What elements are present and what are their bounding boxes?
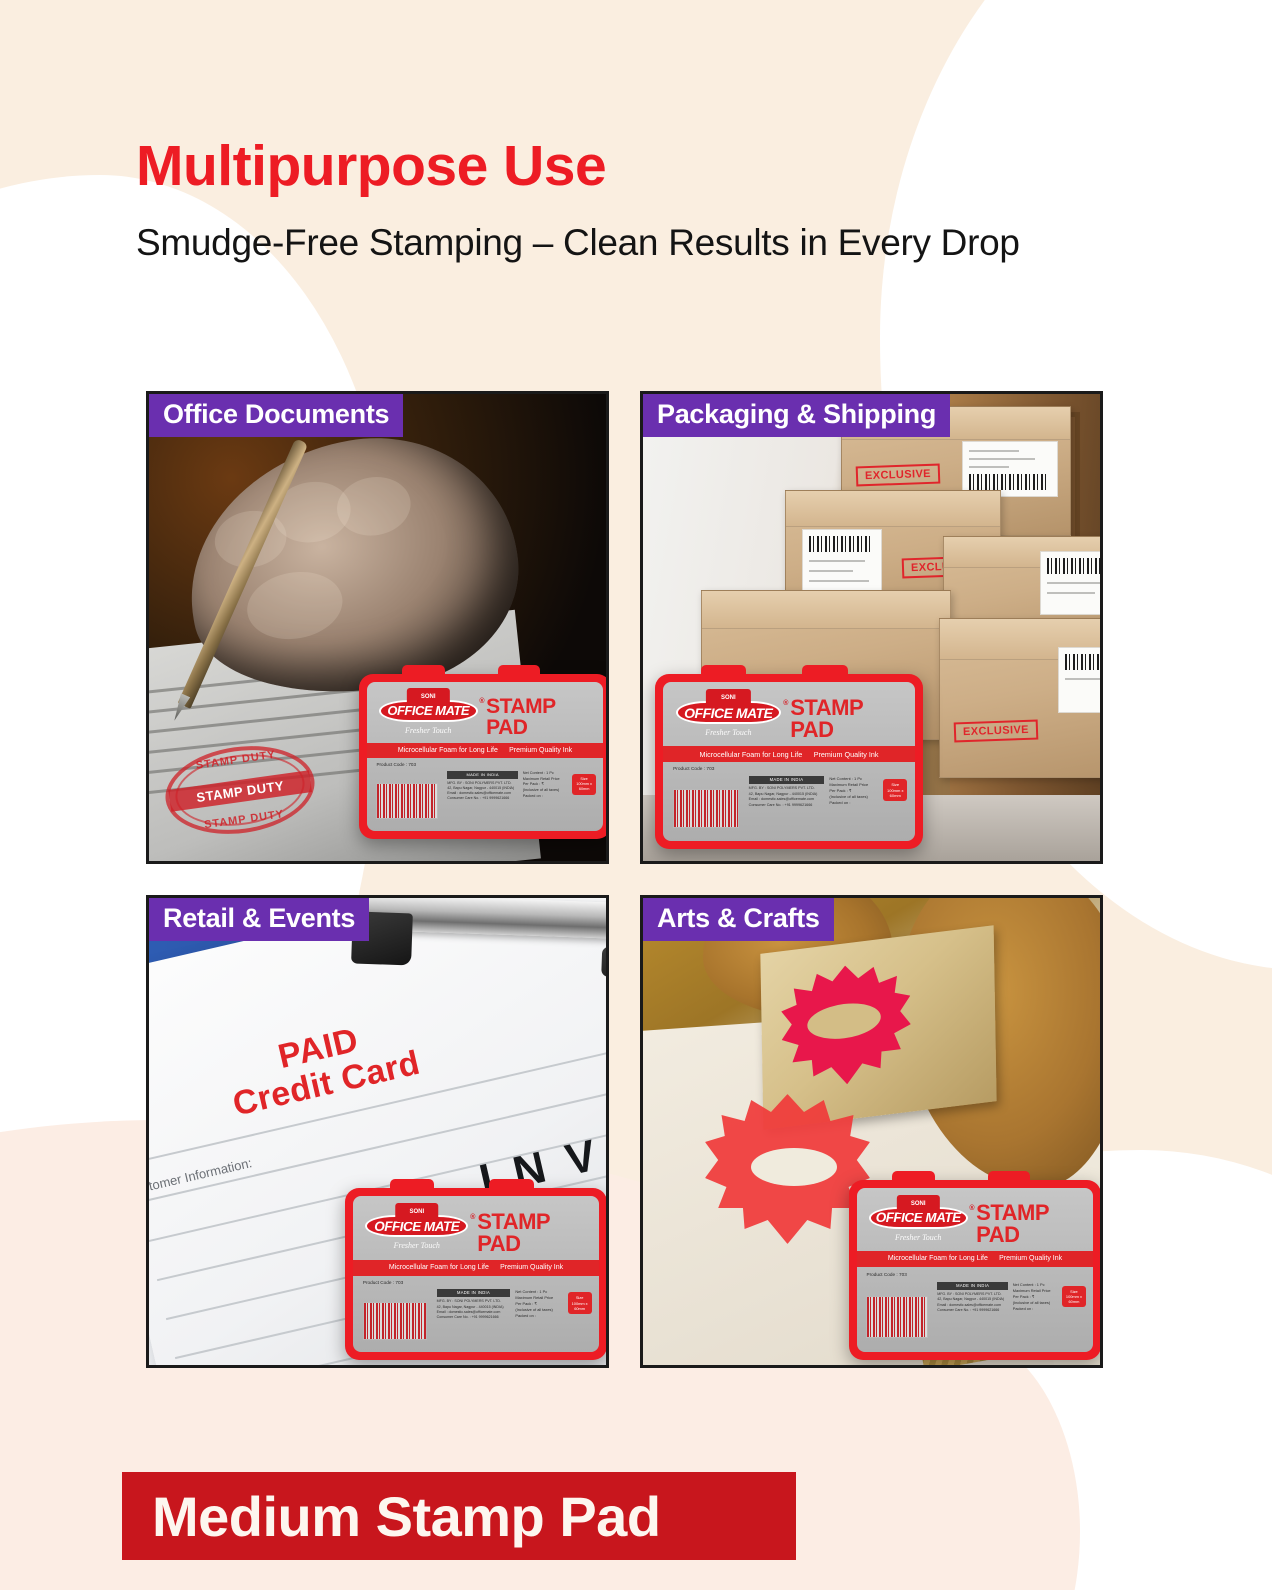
brand-logo: SONI OFFICE MATE ® Fresher Touch: [379, 700, 478, 735]
pack-hinge-right: [489, 1179, 534, 1193]
mfg-line-3: Email : domestic.sales@officemate.com: [937, 1303, 1008, 1308]
pack-label: SONI OFFICE MATE ® Fresher Touch STAMP P…: [663, 682, 915, 841]
feature-text-1: Microcellular Foam for Long Life: [389, 1264, 489, 1271]
product-details: Net Content : 1 Pc Maximum Retail Price …: [1013, 1282, 1065, 1311]
manufacturer-info: MADE IN INDIA MFG. BY : SONI POLYMERS PV…: [437, 1289, 511, 1320]
product-details: Net Content : 1 Pc Maximum Retail Price …: [515, 1289, 569, 1318]
product-title: STAMP PAD: [486, 696, 555, 738]
shipping-label: [1058, 647, 1103, 713]
product-code: Product Code : 703: [363, 1280, 403, 1285]
pack-hinge-left: [701, 665, 747, 679]
product-title-line1: STAMP: [976, 1202, 1049, 1224]
tile-badge-retail-events: Retail & Events: [149, 898, 369, 941]
pack-hinge-right: [988, 1171, 1031, 1185]
product-code: Product Code : 703: [673, 767, 714, 772]
registered-trademark-icon: ®: [783, 700, 788, 707]
pack-hinge-right: [498, 665, 541, 679]
product-title-line2: PAD: [486, 717, 555, 738]
exclusive-stamp: EXCLUSIVE: [954, 720, 1039, 743]
mfg-line-2: 42, Bapu Nagar, Nagpur - 440015 (INDIA): [937, 1297, 1008, 1302]
made-in-india-badge: MADE IN INDIA: [437, 1289, 511, 1297]
size-badge: Size 100mm x 60mm: [568, 1292, 592, 1313]
product-details: Net Content : 1 Pc Maximum Retail Price …: [829, 776, 884, 806]
product-code: Product Code : 703: [866, 1272, 906, 1277]
size-value-2: 60mm: [572, 1306, 588, 1311]
pack-hinge-right: [802, 665, 848, 679]
mfg-line-4: Consumer Care No. : +91 9999621666: [937, 1308, 1008, 1313]
product-pack[interactable]: SONI OFFICE MATE ® Fresher Touch STAMP P…: [655, 674, 923, 849]
product-name-banner: Medium Stamp Pad: [122, 1472, 796, 1560]
made-in-india-badge: MADE IN INDIA: [937, 1282, 1008, 1290]
registered-trademark-icon: ®: [969, 1205, 974, 1212]
barcode: [376, 783, 437, 820]
tile-badge-arts-crafts: Arts & Crafts: [643, 898, 834, 941]
promo-page: Multipurpose Use Smudge-Free Stamping – …: [0, 0, 1272, 1590]
page-title: Multipurpose Use: [136, 133, 606, 199]
brand-logo-soni: SONI: [395, 1203, 438, 1221]
feature-text-1: Microcellular Foam for Long Life: [398, 747, 498, 754]
manufacturer-info: MADE IN INDIA MFG. BY : SONI POLYMERS PV…: [749, 776, 825, 808]
made-in-india-badge: MADE IN INDIA: [749, 776, 825, 784]
registered-trademark-icon: ®: [470, 1214, 475, 1221]
brand-tagline-script: Fresher Touch: [676, 728, 781, 737]
product-title-line1: STAMP: [790, 697, 863, 719]
use-case-tile-office-documents[interactable]: STAMP DUTY STAMP DUTY STAMP DUTY SONI OF…: [146, 391, 609, 864]
brand-tagline-script: Fresher Touch: [869, 1233, 968, 1242]
mfg-line-4: Consumer Care No. : +91 9999621666: [437, 1315, 511, 1320]
brand-logo-soni: SONI: [897, 1195, 939, 1213]
printed-impression-center: [751, 1148, 837, 1186]
use-case-tile-retail-events[interactable]: No Customer Information: Part Name PAID …: [146, 895, 609, 1368]
mfg-line-1: MFG. BY : SONI POLYMERS PVT. LTD.: [749, 786, 825, 791]
product-title: STAMP PAD: [976, 1202, 1049, 1246]
brand-tagline-script: Fresher Touch: [379, 726, 478, 735]
exclusive-stamp: EXCLUSIVE: [856, 464, 941, 487]
size-badge: Size 100mm x 60mm: [883, 779, 907, 801]
size-value-2: 60mm: [1066, 1299, 1082, 1304]
product-title: STAMP PAD: [790, 697, 863, 741]
barcode: [673, 789, 739, 828]
product-title-line2: PAD: [976, 1224, 1049, 1246]
product-code: Product Code : 703: [376, 762, 416, 767]
product-title-line2: PAD: [477, 1233, 550, 1255]
product-pack[interactable]: SONI OFFICE MATE ® Fresher Touch STAMP P…: [345, 1188, 607, 1360]
use-case-tile-arts-crafts[interactable]: SONI OFFICE MATE ® Fresher Touch STAMP P…: [640, 895, 1103, 1368]
packed-on: Packed on :: [829, 800, 884, 806]
form-field-customer: Customer Information:: [146, 1155, 253, 1199]
product-title-line2: PAD: [790, 719, 863, 741]
packed-on: Packed on :: [523, 794, 575, 800]
barcode: [866, 1296, 927, 1339]
product-feature-bar: Microcellular Foam for Long Life Premium…: [663, 746, 915, 762]
use-case-tile-packaging-shipping[interactable]: EXCLUSIVE EXCLUSIVE: [640, 391, 1103, 864]
tile-badge-office-documents: Office Documents: [149, 394, 403, 437]
feature-text-1: Microcellular Foam for Long Life: [888, 1255, 988, 1262]
packed-on: Packed on :: [1013, 1306, 1065, 1312]
product-feature-bar: Microcellular Foam for Long Life Premium…: [353, 1260, 599, 1276]
size-value-2: 60mm: [887, 793, 903, 798]
packed-on: Packed on :: [515, 1313, 569, 1319]
product-feature-bar: Microcellular Foam for Long Life Premium…: [857, 1251, 1093, 1267]
size-value-1: 100mm x: [1066, 1294, 1082, 1299]
brand-logo: SONI OFFICE MATE ® Fresher Touch: [869, 1207, 968, 1242]
form-field-no: No: [146, 1128, 147, 1146]
page-subtitle: Smudge-Free Stamping – Clean Results in …: [136, 222, 1020, 264]
feature-text-2: Premium Quality Ink: [509, 747, 572, 754]
product-feature-bar: Microcellular Foam for Long Life Premium…: [367, 743, 603, 758]
brand-logo: SONI OFFICE MATE ® Fresher Touch: [676, 701, 781, 737]
cardboard-box: EXCLUSIVE: [939, 618, 1103, 778]
mfg-line-2: 42, Bapu Nagar, Nagpur - 440015 (INDIA): [437, 1305, 511, 1310]
barcode: [363, 1302, 427, 1340]
product-details: Net Content : 1 Pc Maximum Retail Price …: [523, 771, 575, 799]
manufacturer-info: MADE IN INDIA MFG. BY : SONI POLYMERS PV…: [937, 1282, 1008, 1313]
pack-label: SONI OFFICE MATE ® Fresher Touch STAMP P…: [857, 1188, 1093, 1352]
mfg-line-1: MFG. BY : SONI POLYMERS PVT. LTD.: [437, 1299, 511, 1304]
brand-logo-soni: SONI: [706, 689, 750, 708]
size-value-1: 100mm x: [572, 1301, 588, 1306]
product-title-line1: STAMP: [486, 696, 555, 717]
brand-tagline-script: Fresher Touch: [365, 1241, 468, 1250]
product-pack[interactable]: SONI OFFICE MATE ® Fresher Touch STAMP P…: [359, 674, 609, 839]
pack-hinge-left: [402, 665, 445, 679]
made-in-india-badge: MADE IN INDIA: [447, 771, 518, 779]
product-title: STAMP PAD: [477, 1211, 550, 1255]
product-name-text: Medium Stamp Pad: [152, 1484, 661, 1549]
pack-hinge-left: [892, 1171, 935, 1185]
shipping-label: [1040, 551, 1103, 615]
use-case-grid: STAMP DUTY STAMP DUTY STAMP DUTY SONI OF…: [146, 391, 1106, 1356]
feature-text-2: Premium Quality Ink: [500, 1264, 563, 1271]
pack-label: SONI OFFICE MATE ® Fresher Touch STAMP P…: [353, 1196, 599, 1352]
product-title-line1: STAMP: [477, 1211, 550, 1233]
pack-hinge-left: [390, 1179, 435, 1193]
brand-logo-soni: SONI: [407, 688, 449, 706]
manufacturer-info: MADE IN INDIA MFG. BY : SONI POLYMERS PV…: [447, 771, 518, 802]
size-badge: Size 100mm x 60mm: [1062, 1286, 1086, 1307]
wooden-printing-block: [760, 925, 996, 1130]
mfg-line-4: Consumer Care No. : +91 9999621666: [447, 796, 518, 801]
feature-text-2: Premium Quality Ink: [999, 1255, 1062, 1262]
pack-label: SONI OFFICE MATE ® Fresher Touch STAMP P…: [367, 682, 603, 831]
shipping-label: [962, 441, 1058, 497]
brand-logo: SONI OFFICE MATE ® Fresher Touch: [365, 1215, 468, 1250]
size-value-2: 60mm: [576, 787, 592, 792]
size-badge: Size 100mm x 60mm: [572, 774, 596, 795]
mfg-line-4: Consumer Care No. : +91 9999621666: [749, 803, 825, 808]
feature-text-2: Premium Quality Ink: [814, 750, 879, 759]
mfg-line-3: Email : domestic.sales@officemate.com: [749, 797, 825, 802]
feature-text-1: Microcellular Foam for Long Life: [700, 750, 803, 759]
tile-badge-packaging-shipping: Packaging & Shipping: [643, 394, 950, 437]
product-pack[interactable]: SONI OFFICE MATE ® Fresher Touch STAMP P…: [849, 1180, 1101, 1360]
registered-trademark-icon: ®: [479, 698, 484, 705]
